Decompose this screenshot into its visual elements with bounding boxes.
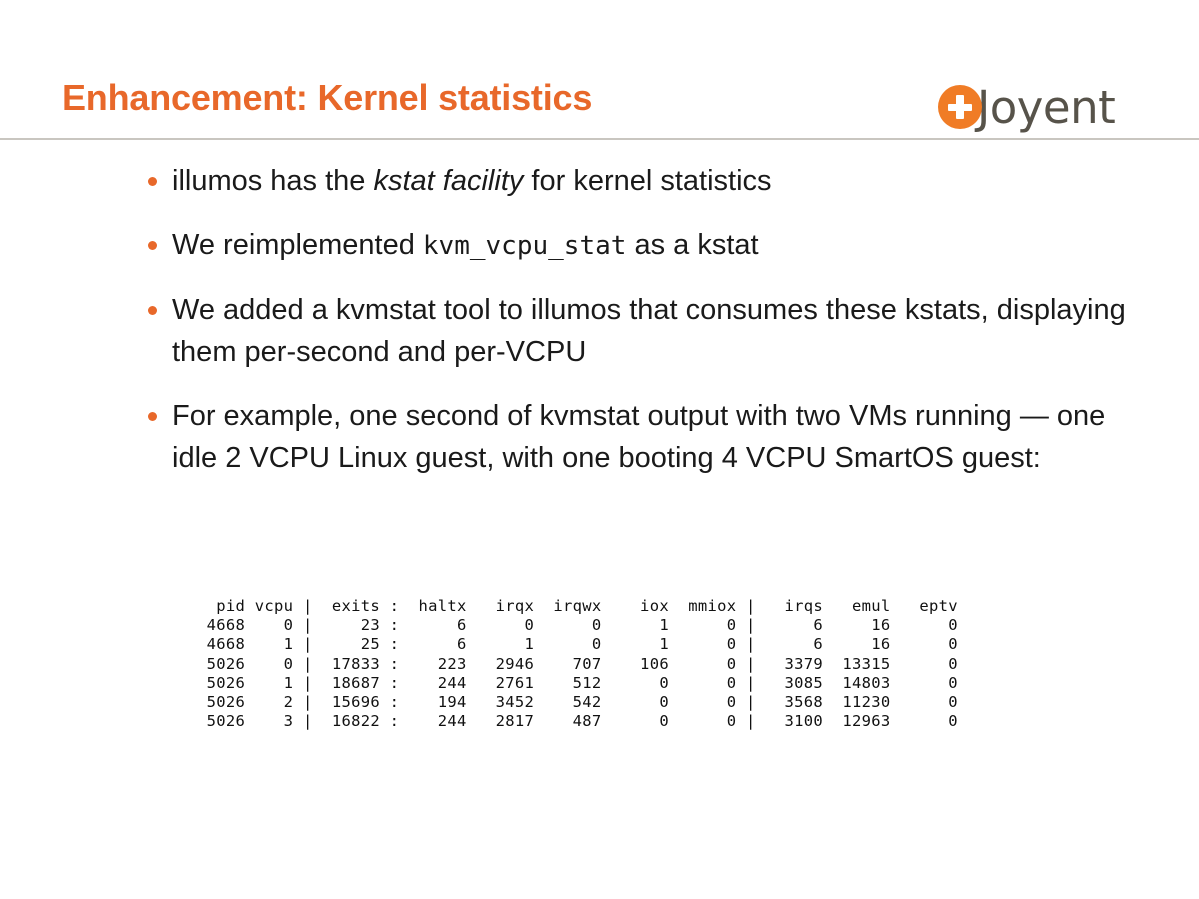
bullet-text: We added a kvmstat tool to illumos that … bbox=[172, 289, 1139, 373]
plus-vertical-bar bbox=[956, 95, 964, 119]
list-item: We added a kvmstat tool to illumos that … bbox=[0, 289, 1199, 373]
logo-wordmark: Joyent bbox=[977, 85, 1115, 130]
bullet-text: For example, one second of kvmstat outpu… bbox=[172, 395, 1139, 479]
bullet-marker-icon bbox=[148, 241, 157, 250]
slide-body: illumos has the kstat facility for kerne… bbox=[0, 160, 1199, 479]
bullet-marker-icon bbox=[148, 306, 157, 315]
bullet-segment-text: We reimplemented bbox=[172, 229, 423, 261]
list-item: illumos has the kstat facility for kerne… bbox=[0, 160, 1199, 202]
bullet-segment-italic: kstat facility bbox=[374, 165, 524, 197]
list-item: For example, one second of kvmstat outpu… bbox=[0, 395, 1199, 479]
bullet-segment-text: illumos has the bbox=[172, 165, 374, 197]
bullet-marker-icon bbox=[148, 412, 157, 421]
bullet-segment-code: kvm_vcpu_stat bbox=[423, 231, 627, 261]
page-title: Enhancement: Kernel statistics bbox=[62, 80, 592, 116]
header-divider bbox=[0, 138, 1199, 140]
bullet-text: We reimplemented kvm_vcpu_stat as a ksta… bbox=[172, 224, 1139, 267]
kvmstat-output-block: pid vcpu | exits : haltx irqx irqwx iox … bbox=[197, 597, 958, 731]
list-item: We reimplemented kvm_vcpu_stat as a ksta… bbox=[0, 224, 1199, 267]
slide-header: Enhancement: Kernel statistics Joyent bbox=[0, 0, 1199, 140]
presentation-slide: Enhancement: Kernel statistics Joyent il… bbox=[0, 0, 1199, 899]
bullet-marker-icon bbox=[148, 177, 157, 186]
bullet-segment-text: for kernel statistics bbox=[523, 165, 771, 197]
joyent-logo: Joyent bbox=[938, 79, 1115, 135]
bullet-text: illumos has the kstat facility for kerne… bbox=[172, 160, 1139, 202]
bullet-segment-text: as a kstat bbox=[626, 229, 758, 261]
plus-circle-icon bbox=[938, 85, 982, 129]
bullet-list: illumos has the kstat facility for kerne… bbox=[0, 160, 1199, 479]
